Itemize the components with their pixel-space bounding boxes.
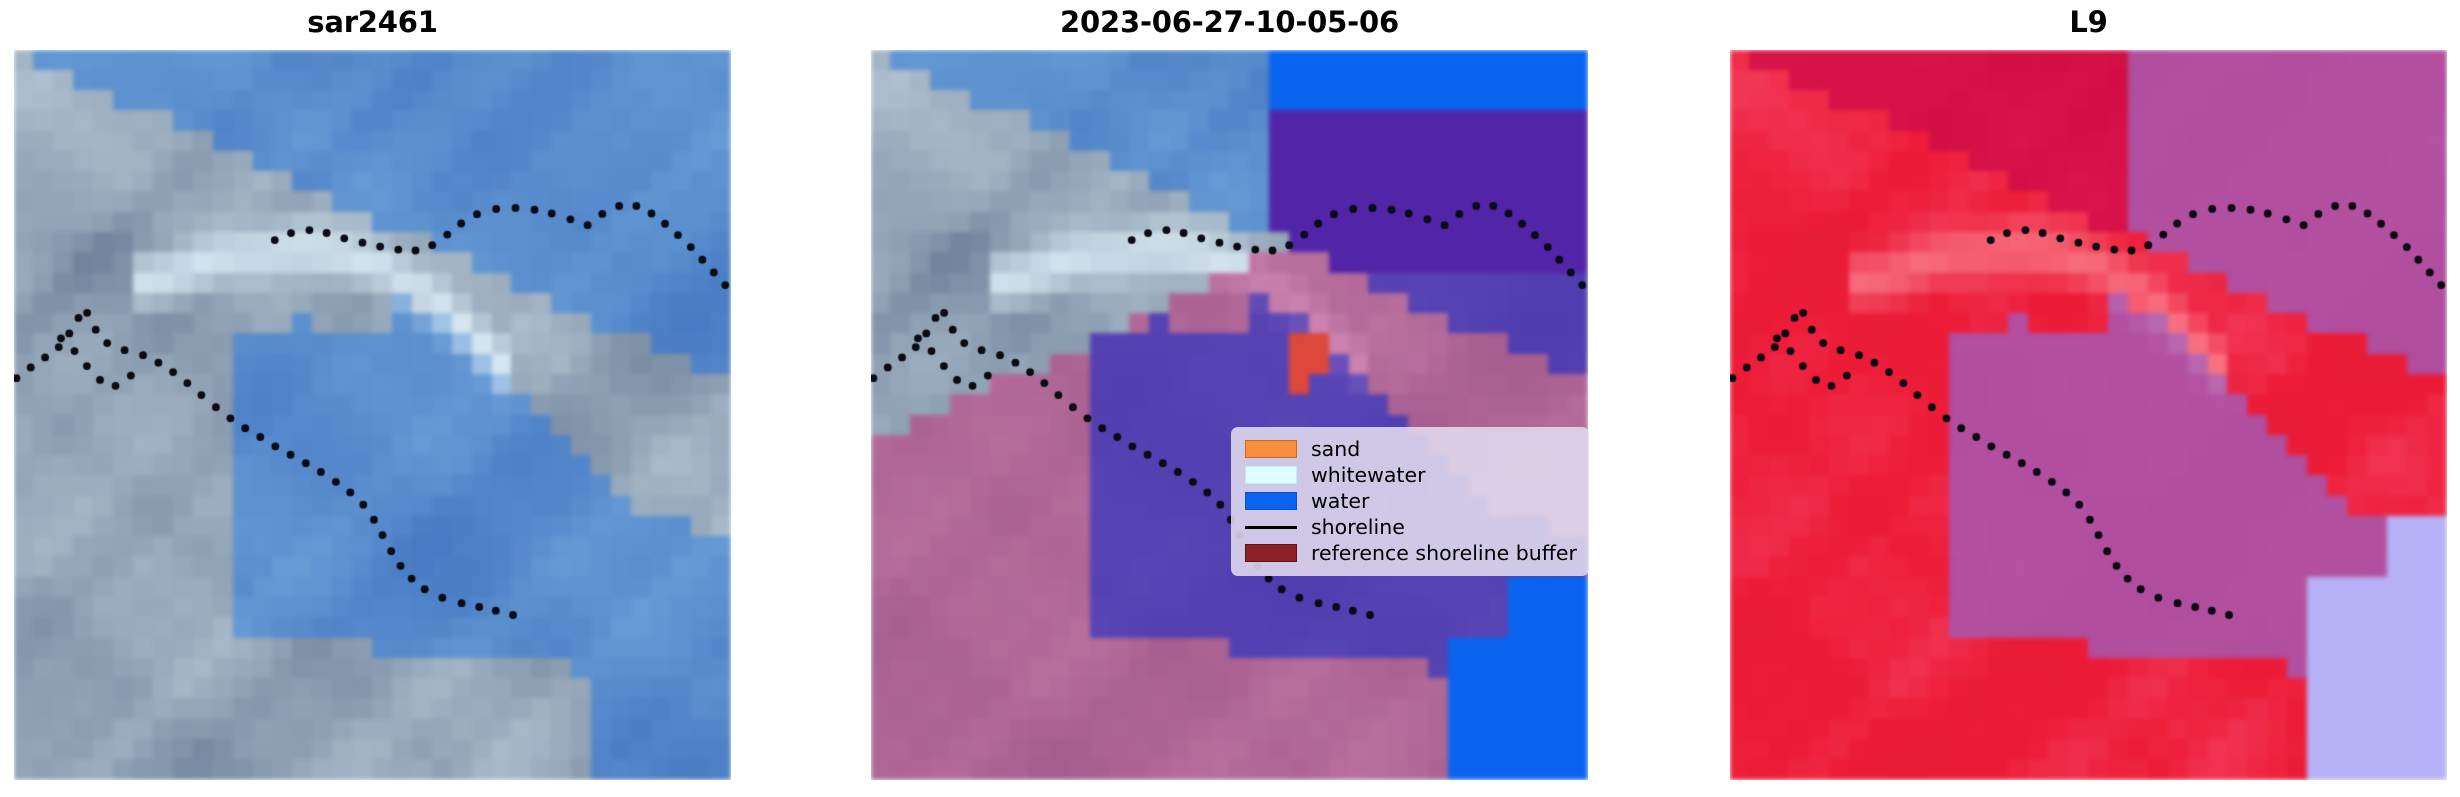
classified-satellite-image xyxy=(871,50,1588,780)
legend-item-reference-shoreline-buffer: reference shoreline buffer xyxy=(1243,540,1577,566)
figure-canvas: sar2461 2023-06-27-10-05-06 L9 sand whit… xyxy=(0,0,2460,797)
panel-title-classified: 2023-06-27-10-05-06 xyxy=(871,5,1588,39)
panel-classified-image: 2023-06-27-10-05-06 xyxy=(871,50,1588,780)
legend-swatch-whitewater xyxy=(1243,462,1299,488)
index-false-colour-image xyxy=(1730,50,2447,780)
legend-label-sand: sand xyxy=(1311,437,1360,461)
legend-label-water: water xyxy=(1311,489,1369,513)
panel-index-image: L9 xyxy=(1730,50,2447,780)
legend-item-whitewater: whitewater xyxy=(1243,462,1577,488)
legend-item-water: water xyxy=(1243,488,1577,514)
legend-swatch-water xyxy=(1243,488,1299,514)
legend-label-reference-shoreline-buffer: reference shoreline buffer xyxy=(1311,541,1577,565)
legend-item-shoreline: shoreline xyxy=(1243,514,1577,540)
panel-rgb-image: sar2461 xyxy=(14,50,731,780)
panel-title-rgb: sar2461 xyxy=(14,5,731,39)
legend-swatch-shoreline xyxy=(1243,514,1299,540)
legend-box: sand whitewater water shoreline referenc… xyxy=(1231,427,1589,576)
rgb-satellite-image xyxy=(14,50,731,780)
legend-label-whitewater: whitewater xyxy=(1311,463,1426,487)
legend-swatch-sand xyxy=(1243,436,1299,462)
legend-item-sand: sand xyxy=(1243,436,1577,462)
panel-title-index: L9 xyxy=(1730,5,2447,39)
legend-swatch-reference-shoreline-buffer xyxy=(1243,540,1299,566)
legend-label-shoreline: shoreline xyxy=(1311,515,1405,539)
